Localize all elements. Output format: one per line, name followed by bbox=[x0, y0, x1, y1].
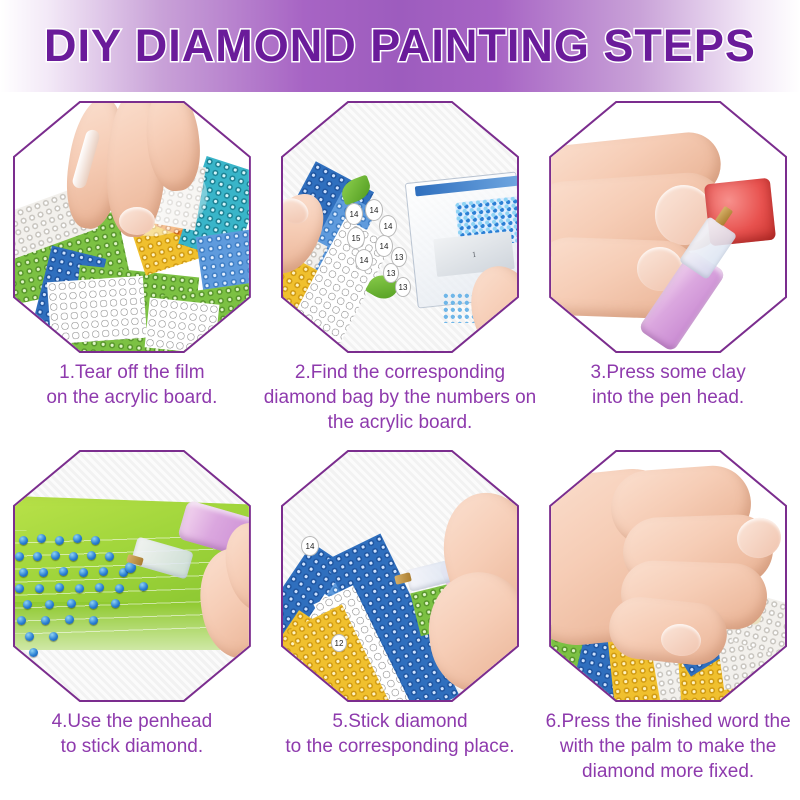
canvas-number-cell: 12 bbox=[331, 634, 347, 652]
caption-line: into the pen head. bbox=[544, 385, 792, 410]
step-card-3: 3.Press some clay into the pen head. bbox=[540, 98, 796, 447]
step-card-4: 4.Use the penhead to stick diamond. bbox=[4, 447, 260, 796]
step-1-caption: 1.Tear off the film on the acrylic board… bbox=[4, 356, 260, 410]
caption-line: 3.Press some clay bbox=[544, 360, 792, 385]
step-3-photo-frame bbox=[544, 98, 792, 356]
caption-line: to stick diamond. bbox=[8, 734, 256, 759]
palm-pressing-finished-artwork-photo bbox=[551, 452, 785, 700]
caption-line: 5.Stick diamond bbox=[264, 709, 537, 734]
step-2-photo-frame: 14 14 14 15 14 14 13 13 13 1 bbox=[276, 98, 524, 356]
canvas-number-cell: 14 bbox=[379, 215, 397, 237]
step-5-photo-frame: 14 12 14 bbox=[276, 447, 524, 705]
page-title: DIY DIAMOND PAINTING STEPS bbox=[44, 20, 756, 72]
pen-picking-diamond-from-tray-photo bbox=[15, 452, 249, 700]
step-3-caption: 3.Press some clay into the pen head. bbox=[540, 356, 796, 410]
step-card-6: 6.Press the finished word the with the p… bbox=[540, 447, 796, 796]
caption-line: 6.Press the finished word the bbox=[544, 709, 792, 734]
step-4-caption: 4.Use the penhead to stick diamond. bbox=[4, 705, 260, 759]
pen-pressed-into-clay-photo bbox=[551, 103, 785, 351]
step-1-photo-frame bbox=[8, 98, 256, 356]
header-banner: DIY DIAMOND PAINTING STEPS bbox=[0, 0, 800, 92]
step-card-2: 14 14 14 15 14 14 13 13 13 1 bbox=[260, 98, 541, 447]
caption-line: diamond bag by the numbers on bbox=[264, 385, 537, 410]
placing-diamond-on-canvas-photo: 14 12 14 bbox=[283, 452, 517, 700]
caption-line: the acrylic board. bbox=[264, 410, 537, 435]
canvas-number-cell: 14 bbox=[301, 536, 319, 556]
step-5-caption: 5.Stick diamond to the corresponding pla… bbox=[260, 705, 541, 759]
caption-line: 2.Find the corresponding bbox=[264, 360, 537, 385]
caption-line: 4.Use the penhead bbox=[8, 709, 256, 734]
step-card-5: 14 12 14 5.Stick diamond to the correspo… bbox=[260, 447, 541, 796]
hand-peeling-film-off-canvas-photo bbox=[15, 103, 249, 351]
step-2-caption: 2.Find the corresponding diamond bag by … bbox=[260, 356, 541, 435]
numbered-canvas-and-diamond-bag-photo: 14 14 14 15 14 14 13 13 13 1 bbox=[283, 103, 517, 351]
canvas-number-cell: 15 bbox=[347, 227, 365, 249]
caption-line: with the palm to make the bbox=[544, 734, 792, 759]
canvas-number-cell: 14 bbox=[345, 203, 363, 225]
caption-line: on the acrylic board. bbox=[8, 385, 256, 410]
step-card-1: 1.Tear off the film on the acrylic board… bbox=[4, 98, 260, 447]
step-6-photo-frame bbox=[544, 447, 792, 705]
canvas-number-cell: 14 bbox=[355, 249, 373, 271]
step-6-caption: 6.Press the finished word the with the p… bbox=[540, 705, 796, 784]
caption-line: to the corresponding place. bbox=[264, 734, 537, 759]
steps-grid: 1.Tear off the film on the acrylic board… bbox=[0, 92, 800, 800]
caption-line: diamond more fixed. bbox=[544, 759, 792, 784]
canvas-number-cell: 13 bbox=[395, 277, 411, 297]
caption-line: 1.Tear off the film bbox=[8, 360, 256, 385]
step-4-photo-frame bbox=[8, 447, 256, 705]
